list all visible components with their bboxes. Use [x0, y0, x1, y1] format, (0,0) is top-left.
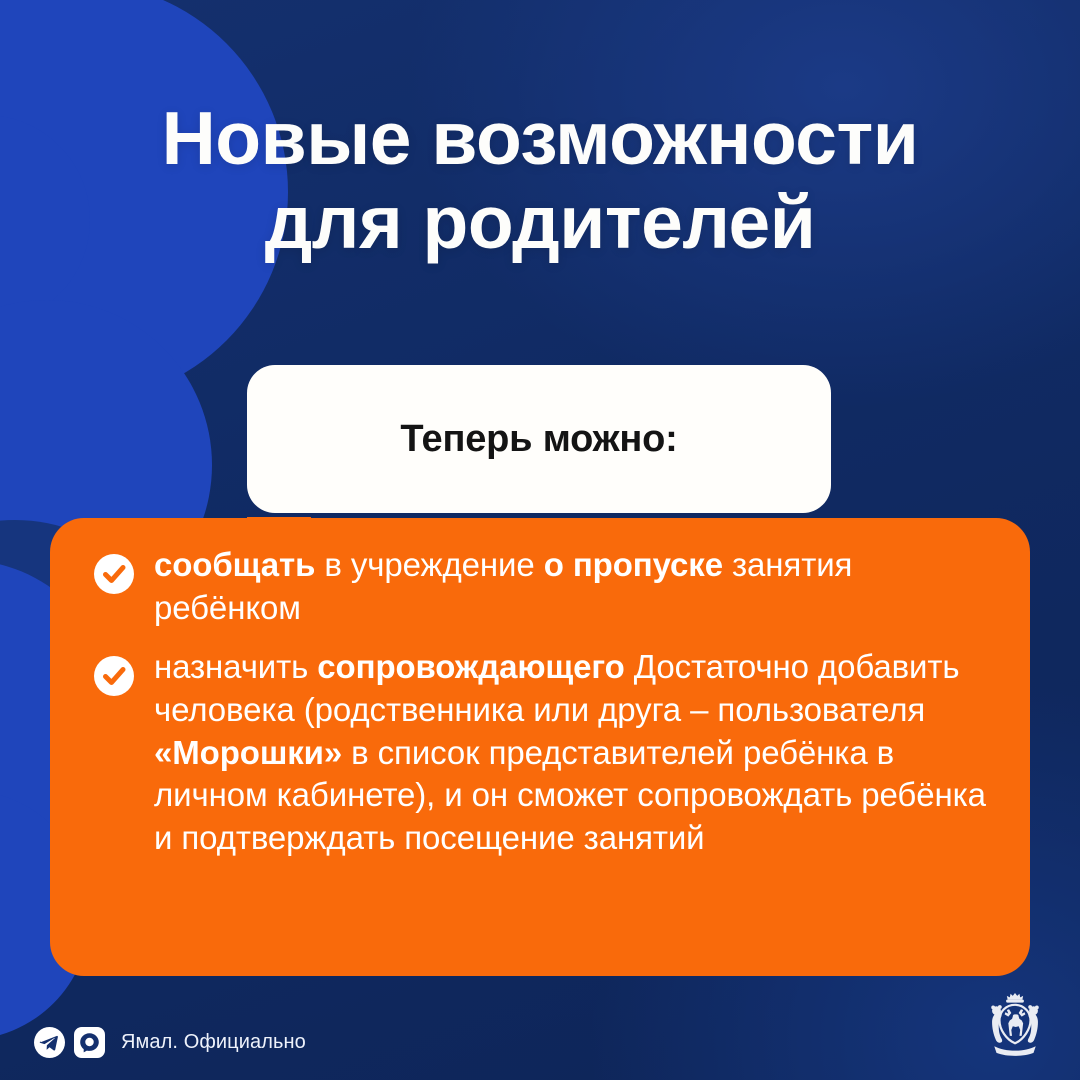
- feature-item-text: назначить сопровождающего Достаточно доб…: [154, 646, 986, 860]
- yamal-coat-of-arms-icon: [978, 990, 1052, 1064]
- feature-item: сообщать в учреждение о пропуске занятия…: [94, 544, 986, 630]
- check-circle-icon: [94, 656, 134, 696]
- page-title-line-2: для родителей: [60, 180, 1020, 264]
- feature-list: сообщать в учреждение о пропуске занятия…: [94, 544, 986, 860]
- heading-card: Теперь можно:: [247, 365, 831, 513]
- footer: Ямал. Официально: [34, 1027, 306, 1058]
- max-messenger-icon[interactable]: [74, 1027, 105, 1058]
- page-title: Новые возможности для родителей: [0, 96, 1080, 264]
- feature-item: назначить сопровождающего Достаточно доб…: [94, 646, 986, 860]
- poster-canvas: Новые возможности для родителей Теперь м…: [0, 0, 1080, 1080]
- check-circle-icon: [94, 554, 134, 594]
- heading-card-label: Теперь можно:: [400, 418, 677, 461]
- footer-label: Ямал. Официально: [121, 1031, 306, 1054]
- telegram-icon[interactable]: [34, 1027, 65, 1058]
- page-title-line-1: Новые возможности: [60, 96, 1020, 180]
- card-notch: [247, 517, 311, 557]
- features-card: сообщать в учреждение о пропуске занятия…: [50, 518, 1030, 976]
- footer-social-icons: [34, 1027, 105, 1058]
